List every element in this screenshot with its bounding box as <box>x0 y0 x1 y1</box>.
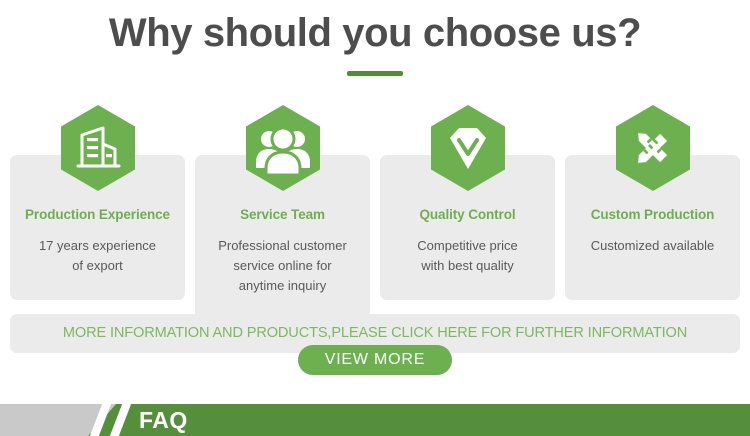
page-title: Why should you choose us? <box>0 0 750 57</box>
feature-card-description: Competitive price with best quality <box>388 236 547 276</box>
faq-section-bar: FAQ <box>0 404 750 436</box>
feature-card-description-line: Competitive price <box>388 236 547 256</box>
feature-card-service-team[interactable]: Service Team Professional customer servi… <box>195 155 370 324</box>
pencil-ruler-icon <box>614 104 692 192</box>
feature-card-description-line: anytime inquiry <box>203 276 362 296</box>
feature-card-description-line: Customized available <box>573 236 732 256</box>
feature-card-description-line: Professional customer <box>203 236 362 256</box>
feature-card-description: Professional customer service online for… <box>203 236 362 296</box>
users-group-icon <box>244 104 322 192</box>
faq-title: FAQ <box>139 404 188 436</box>
feature-card-title: Quality Control <box>388 207 547 223</box>
feature-card-production-experience[interactable]: Production Experience 17 years experienc… <box>10 155 185 300</box>
feature-card-title: Custom Production <box>573 207 732 223</box>
feature-card-title: Service Team <box>203 207 362 223</box>
feature-card-quality-control[interactable]: Quality Control Competitive price with b… <box>380 155 555 300</box>
feature-card-description-line: with best quality <box>388 256 547 276</box>
feature-cards-row: Production Experience 17 years experienc… <box>10 104 740 304</box>
page-header: Why should you choose us? <box>0 0 750 92</box>
feature-card-description: 17 years experience of export <box>18 236 177 276</box>
diamond-icon <box>429 104 507 192</box>
view-more-button[interactable]: VIEW MORE <box>298 345 452 375</box>
feature-card-custom-production[interactable]: Custom Production Customized available <box>565 155 740 300</box>
building-icon <box>59 104 137 192</box>
feature-card-description-line: service online for <box>203 256 362 276</box>
faq-slash-decor <box>108 404 132 436</box>
feature-card-title: Production Experience <box>18 207 177 223</box>
feature-card-description-line: 17 years experience <box>18 236 177 256</box>
title-underline-accent <box>347 71 403 76</box>
feature-card-description: Customized available <box>573 236 732 256</box>
feature-card-description-line: of export <box>18 256 177 276</box>
